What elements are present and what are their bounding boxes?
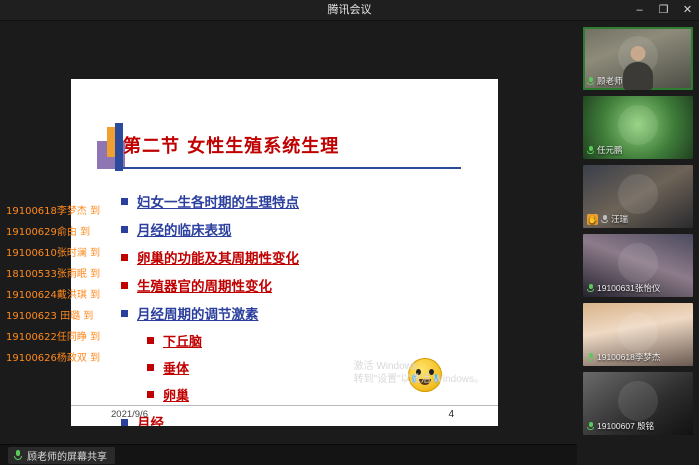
participant-label: 19100607 殷铭 xyxy=(587,420,654,432)
video-frame-decoration xyxy=(618,174,658,214)
bullet-text: 妇女一生各时期的生理特点 xyxy=(137,191,299,211)
microphone-icon xyxy=(587,284,594,293)
bullet-text: 月经周期的调节激素 xyxy=(137,303,259,323)
tencent-meeting-window: 腾讯会议 – ❐ ✕ 第二节 女性生殖系统生理 妇女一生各时期的生理特点 月经的… xyxy=(0,0,699,465)
video-tile-participant[interactable]: 任元鹏 xyxy=(583,96,693,159)
microphone-icon xyxy=(587,422,594,431)
screen-share-status-label: 顾老师的屏幕共享 xyxy=(27,448,107,463)
bullet-square-icon xyxy=(147,364,154,371)
list-item: 19100626杨政双 到 xyxy=(6,348,102,369)
windows-activation-watermark: 激活 Windows 转到"设置"以激活 Windows。 xyxy=(354,360,484,386)
list-item: 月经 xyxy=(121,412,491,426)
slide-title: 第二节 女性生殖系统生理 xyxy=(123,132,483,158)
slide-page-number: 4 xyxy=(448,409,454,420)
video-tile-participant[interactable]: 19100607 殷铭 xyxy=(583,372,693,435)
roll-call-overlay: 19100618李梦杰 到 19100629俞由 到 19100610张时澜 到… xyxy=(6,201,102,369)
minimize-button[interactable]: – xyxy=(634,0,645,21)
microphone-icon xyxy=(587,353,594,362)
participant-label: ✋ 汪瑞 xyxy=(587,213,628,225)
video-tile-participant[interactable]: 19100631张怡仪 xyxy=(583,234,693,297)
presentation-slide: 第二节 女性生殖系统生理 妇女一生各时期的生理特点 月经的临床表现 卵巢的功能及… xyxy=(71,79,498,426)
microphone-icon xyxy=(14,450,22,461)
video-tile-host[interactable]: 顾老师 xyxy=(583,27,693,90)
video-frame-decoration xyxy=(618,312,658,352)
video-frame-decoration xyxy=(618,381,658,421)
bullet-square-icon xyxy=(121,226,128,233)
list-item: 18100533张雨眠 到 xyxy=(6,264,102,285)
bottom-status-bar: 顾老师的屏幕共享 xyxy=(0,444,577,465)
bullet-square-icon xyxy=(121,310,128,317)
raise-hand-icon: ✋ xyxy=(587,214,598,225)
list-item: 19100623 田璐 到 xyxy=(6,306,102,327)
list-item: 19100618李梦杰 到 xyxy=(6,201,102,222)
person-head xyxy=(631,46,646,61)
list-item: 19100624戴洪琪 到 xyxy=(6,285,102,306)
video-frame-decoration xyxy=(618,105,658,145)
participant-label: 顾老师 xyxy=(587,75,623,87)
participant-name: 19100631张怡仪 xyxy=(597,282,660,294)
video-tile-participant[interactable]: 19100618李梦杰 xyxy=(583,303,693,366)
participant-name: 19100607 殷铭 xyxy=(597,420,654,432)
microphone-muted-icon xyxy=(601,215,608,224)
list-item: 生殖器官的周期性变化 xyxy=(121,275,491,295)
participant-name: 顾老师 xyxy=(597,75,623,87)
participant-label: 任元鹏 xyxy=(587,144,623,156)
list-item: 19100622任同睁 到 xyxy=(6,327,102,348)
slide-date: 2021/9/6 xyxy=(111,409,148,420)
bullet-text: 卵巢 xyxy=(163,385,189,404)
maximize-button[interactable]: ❐ xyxy=(658,0,669,21)
video-frame-decoration xyxy=(618,243,658,283)
participant-name: 19100618李梦杰 xyxy=(597,351,660,363)
video-tile-participant[interactable]: ✋ 汪瑞 xyxy=(583,165,693,228)
bullet-square-icon xyxy=(147,391,154,398)
bullet-square-icon xyxy=(121,419,128,426)
microphone-icon xyxy=(587,77,594,86)
decoration-blue-bar xyxy=(115,123,123,171)
participant-name: 任元鹏 xyxy=(597,144,623,156)
watermark-line-2: 转到"设置"以激活 Windows。 xyxy=(354,373,484,386)
slide-footer-divider xyxy=(71,405,498,406)
bullet-square-icon xyxy=(121,198,128,205)
title-bar: 腾讯会议 – ❐ ✕ xyxy=(0,0,699,21)
microphone-icon xyxy=(587,146,594,155)
participant-name: 汪瑞 xyxy=(611,213,628,225)
list-item: 19100610张时澜 到 xyxy=(6,243,102,264)
list-item: 月经周期的调节激素 xyxy=(121,303,491,323)
participant-label: 19100631张怡仪 xyxy=(587,282,660,294)
list-item: 19100629俞由 到 xyxy=(6,222,102,243)
list-item: 下丘脑 xyxy=(121,331,491,350)
bullet-square-icon xyxy=(121,254,128,261)
slide-bullet-list: 妇女一生各时期的生理特点 月经的临床表现 卵巢的功能及其周期性变化 生殖器官的周… xyxy=(121,191,491,426)
watermark-line-1: 激活 Windows xyxy=(354,360,484,373)
bullet-text: 垂体 xyxy=(163,358,189,377)
list-item: 月经的临床表现 xyxy=(121,219,491,239)
close-button[interactable]: ✕ xyxy=(682,0,693,21)
screen-share-status-chip[interactable]: 顾老师的屏幕共享 xyxy=(8,447,115,464)
bullet-text: 卵巢的功能及其周期性变化 xyxy=(137,247,299,267)
shared-screen-stage: 第二节 女性生殖系统生理 妇女一生各时期的生理特点 月经的临床表现 卵巢的功能及… xyxy=(0,21,577,444)
list-item: 妇女一生各时期的生理特点 xyxy=(121,191,491,211)
bullet-square-icon xyxy=(121,282,128,289)
person-body xyxy=(623,62,653,90)
bullet-text: 月经的临床表现 xyxy=(137,219,232,239)
bullet-square-icon xyxy=(147,337,154,344)
window-title: 腾讯会议 xyxy=(0,0,699,21)
window-controls: – ❐ ✕ xyxy=(634,0,693,21)
bullet-text: 生殖器官的周期性变化 xyxy=(137,275,272,295)
participant-label: 19100618李梦杰 xyxy=(587,351,660,363)
list-item: 卵巢的功能及其周期性变化 xyxy=(121,247,491,267)
decoration-underline xyxy=(121,167,461,169)
bullet-text: 下丘脑 xyxy=(163,331,202,350)
participant-video-rail[interactable]: 顾老师 任元鹏 ✋ 汪瑞 19100631张怡仪 xyxy=(577,21,699,465)
